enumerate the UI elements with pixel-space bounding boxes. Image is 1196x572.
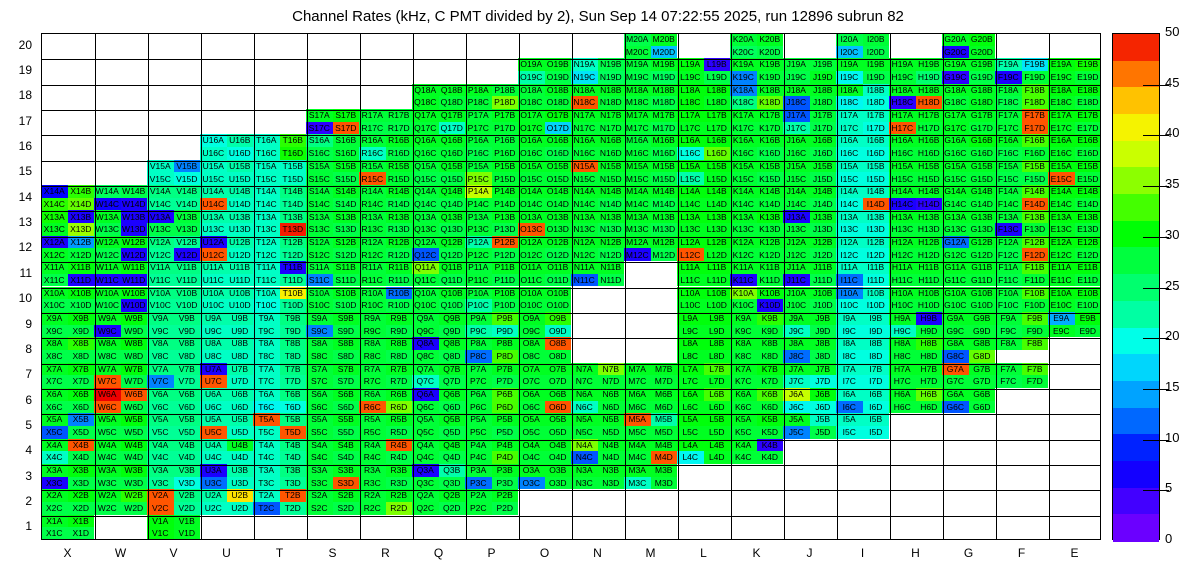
pmt-channel: J10C [783, 299, 810, 312]
pmt-channel: X5C [41, 426, 68, 439]
pmt-channel: Q5C [412, 426, 439, 439]
colorbar-segment [1113, 328, 1159, 355]
pmt-channel: G11C [942, 274, 969, 287]
pmt-channel: O19C [518, 71, 545, 84]
pmt-channel: G13B [969, 210, 996, 223]
pmt-channel: I8B [863, 337, 890, 350]
pmt-channel: O11D [545, 274, 572, 287]
x-axis-tick-label: O [518, 546, 571, 560]
pmt-channel: M12B [651, 236, 678, 249]
pmt-channel: J7C [783, 375, 810, 388]
pmt-channel: X11B [68, 261, 95, 274]
pmt-channel: I12A [836, 236, 863, 249]
pmt-channel: K6A [730, 388, 757, 401]
pmt-channel: R8C [359, 350, 386, 363]
pmt-channel: L7D [704, 375, 731, 388]
pmt-channel: H9D [916, 325, 943, 338]
pmt-channel: R12C [359, 248, 386, 261]
pmt-channel: K11B [757, 261, 784, 274]
pmt-channel: K5C [730, 426, 757, 439]
pmt-channel: K7A [730, 363, 757, 376]
pmt-channel: I16A [836, 134, 863, 147]
heatmap-cells: M20AM20BM20CM20DK20AK20BK20CK20DI20AI20B… [41, 33, 1101, 540]
pmt-channel: T7B [280, 363, 307, 376]
pmt-channel: X7C [41, 375, 68, 388]
colorbar-segment [1113, 87, 1159, 114]
pmt-channel: I5C [836, 426, 863, 439]
pmt-channel: N14A [571, 185, 598, 198]
pmt-channel: P18A [465, 84, 492, 97]
pmt-channel: H16B [916, 134, 943, 147]
pmt-channel: O16B [545, 134, 572, 147]
pmt-channel: P9D [492, 325, 519, 338]
pmt-channel: S14D [333, 198, 360, 211]
pmt-channel: I17C [836, 122, 863, 135]
pmt-channel: P11A [465, 261, 492, 274]
pmt-channel: I20A [836, 33, 863, 46]
pmt-channel: G17A [942, 109, 969, 122]
pmt-channel: T8D [280, 350, 307, 363]
pmt-channel: L16A [677, 134, 704, 147]
pmt-channel: U15C [200, 172, 227, 185]
pmt-channel: M15B [651, 160, 678, 173]
pmt-channel: S14B [333, 185, 360, 198]
pmt-channel: R2D [386, 502, 413, 515]
pmt-channel: I15A [836, 160, 863, 173]
pmt-channel: R14A [359, 185, 386, 198]
pmt-channel: J12D [810, 248, 837, 261]
pmt-channel: O13B [545, 210, 572, 223]
pmt-channel: Q11C [412, 274, 439, 287]
pmt-channel: M3D [651, 477, 678, 490]
pmt-channel: U7B [227, 363, 254, 376]
pmt-channel: K10D [757, 299, 784, 312]
pmt-channel: U9C [200, 325, 227, 338]
colorbar-tick-label: 0 [1165, 531, 1172, 546]
pmt-channel: P2A [465, 489, 492, 502]
pmt-channel: O12C [518, 248, 545, 261]
pmt-channel: W9B [121, 312, 148, 325]
pmt-channel: I13A [836, 210, 863, 223]
pmt-channel: O7C [518, 375, 545, 388]
pmt-channel: O6A [518, 388, 545, 401]
pmt-channel: T2A [253, 489, 280, 502]
pmt-channel: P13A [465, 210, 492, 223]
pmt-channel: H6D [916, 401, 943, 414]
pmt-channel: L17C [677, 122, 704, 135]
pmt-channel: W5B [121, 413, 148, 426]
pmt-channel: J13A [783, 210, 810, 223]
pmt-channel: G11D [969, 274, 996, 287]
pmt-channel: O4C [518, 451, 545, 464]
pmt-channel: N13C [571, 223, 598, 236]
pmt-channel: J13C [783, 223, 810, 236]
pmt-channel: S16D [333, 147, 360, 160]
pmt-channel: T6C [253, 401, 280, 414]
pmt-channel: Q9D [439, 325, 466, 338]
pmt-channel: J19C [783, 71, 810, 84]
pmt-channel: L17D [704, 122, 731, 135]
pmt-channel: I14C [836, 198, 863, 211]
pmt-channel: J10B [810, 287, 837, 300]
pmt-channel: U7C [200, 375, 227, 388]
pmt-channel: H17A [889, 109, 916, 122]
pmt-channel: M19C [624, 71, 651, 84]
pmt-channel: W13B [121, 210, 148, 223]
pmt-channel: Q14B [439, 185, 466, 198]
pmt-channel: R13B [386, 210, 413, 223]
pmt-channel: R11B [386, 261, 413, 274]
pmt-channel: H10C [889, 299, 916, 312]
pmt-channel: M15D [651, 172, 678, 185]
pmt-channel: S10A [306, 287, 333, 300]
pmt-channel: W13C [94, 223, 121, 236]
pmt-channel: O3C [518, 477, 545, 490]
pmt-channel: M13A [624, 210, 651, 223]
pmt-channel: I14A [836, 185, 863, 198]
pmt-channel: M5D [651, 426, 678, 439]
pmt-channel: I7B [863, 363, 890, 376]
pmt-channel: S4C [306, 451, 333, 464]
pmt-channel: T5B [280, 413, 307, 426]
pmt-channel: I9D [863, 325, 890, 338]
pmt-channel: G17D [969, 122, 996, 135]
pmt-channel: H12B [916, 236, 943, 249]
y-axis-tick-label: 17 [2, 114, 32, 128]
pmt-channel: P15B [492, 160, 519, 173]
pmt-channel: N7C [571, 375, 598, 388]
pmt-channel: I19D [863, 71, 890, 84]
pmt-channel: R10C [359, 299, 386, 312]
pmt-channel: U4D [227, 451, 254, 464]
pmt-channel: H8A [889, 337, 916, 350]
pmt-channel: E9D [1075, 325, 1102, 338]
pmt-channel: Q8C [412, 350, 439, 363]
pmt-channel: V8C [147, 350, 174, 363]
pmt-channel: J5B [810, 413, 837, 426]
pmt-channel: M16C [624, 147, 651, 160]
pmt-channel: U8C [200, 350, 227, 363]
pmt-channel: R12A [359, 236, 386, 249]
pmt-channel: F7D [1022, 375, 1049, 388]
pmt-channel: N12C [571, 248, 598, 261]
pmt-channel: X10B [68, 287, 95, 300]
pmt-channel: Q7C [412, 375, 439, 388]
pmt-channel: K13A [730, 210, 757, 223]
pmt-channel: N17D [598, 122, 625, 135]
pmt-channel: P10C [465, 299, 492, 312]
pmt-channel: F10C [995, 299, 1022, 312]
pmt-channel: X12D [68, 248, 95, 261]
pmt-channel: Q15B [439, 160, 466, 173]
pmt-channel: R5B [386, 413, 413, 426]
pmt-channel: L5B [704, 413, 731, 426]
pmt-channel: F10B [1022, 287, 1049, 300]
pmt-channel: H19A [889, 58, 916, 71]
pmt-channel: K20D [757, 46, 784, 59]
pmt-channel: S12B [333, 236, 360, 249]
pmt-channel: L10A [677, 287, 704, 300]
pmt-channel: T5D [280, 426, 307, 439]
pmt-channel: S5D [333, 426, 360, 439]
pmt-channel: T8B [280, 337, 307, 350]
pmt-channel: N4B [598, 439, 625, 452]
pmt-channel: M5B [651, 413, 678, 426]
pmt-channel: K17C [730, 122, 757, 135]
pmt-channel: O14A [518, 185, 545, 198]
pmt-channel: L14C [677, 198, 704, 211]
pmt-channel: M18C [624, 96, 651, 109]
pmt-channel: G20D [969, 46, 996, 59]
pmt-channel: J18A [783, 84, 810, 97]
pmt-channel: X2A [41, 489, 68, 502]
pmt-channel: P7B [492, 363, 519, 376]
pmt-channel: V6D [174, 401, 201, 414]
pmt-channel: K4C [730, 451, 757, 464]
pmt-channel: J5A [783, 413, 810, 426]
pmt-channel: I15B [863, 160, 890, 173]
pmt-channel: M18A [624, 84, 651, 97]
pmt-channel: H10A [889, 287, 916, 300]
pmt-channel: J18C [783, 96, 810, 109]
pmt-channel: L7B [704, 363, 731, 376]
pmt-channel: K14A [730, 185, 757, 198]
pmt-channel: P7D [492, 375, 519, 388]
pmt-channel: Q11D [439, 274, 466, 287]
pmt-channel: K18D [757, 96, 784, 109]
pmt-channel: N7D [598, 375, 625, 388]
pmt-channel: E13D [1075, 223, 1102, 236]
pmt-channel: I16B [863, 134, 890, 147]
pmt-channel: U10C [200, 299, 227, 312]
pmt-channel: Q14D [439, 198, 466, 211]
pmt-channel: M6D [651, 401, 678, 414]
pmt-channel: G10D [969, 299, 996, 312]
pmt-channel: W7D [121, 375, 148, 388]
pmt-channel: H13B [916, 210, 943, 223]
pmt-channel: L12A [677, 236, 704, 249]
pmt-channel: R10D [386, 299, 413, 312]
pmt-channel: K8A [730, 337, 757, 350]
pmt-channel: T12C [253, 248, 280, 261]
pmt-channel: V6B [174, 388, 201, 401]
pmt-channel: T11B [280, 261, 307, 274]
pmt-channel: S17D [333, 122, 360, 135]
pmt-channel: J15A [783, 160, 810, 173]
pmt-channel: I18B [863, 84, 890, 97]
pmt-channel: X10D [68, 299, 95, 312]
pmt-channel: U10A [200, 287, 227, 300]
pmt-channel: P18B [492, 84, 519, 97]
pmt-channel: I20C [836, 46, 863, 59]
pmt-channel: I17B [863, 109, 890, 122]
pmt-channel: P8D [492, 350, 519, 363]
pmt-channel: F10D [1022, 299, 1049, 312]
pmt-channel: K17B [757, 109, 784, 122]
pmt-channel: K11D [757, 274, 784, 287]
pmt-channel: H17C [889, 122, 916, 135]
pmt-channel: G14B [969, 185, 996, 198]
pmt-channel: Q10A [412, 287, 439, 300]
pmt-channel: L14D [704, 198, 731, 211]
pmt-channel: G7C [942, 375, 969, 388]
pmt-channel: G9B [969, 312, 996, 325]
pmt-channel: Q12C [412, 248, 439, 261]
pmt-channel: P10D [492, 299, 519, 312]
pmt-channel: N4D [598, 451, 625, 464]
pmt-channel: I8D [863, 350, 890, 363]
pmt-channel: S2D [333, 502, 360, 515]
pmt-channel: R9C [359, 325, 386, 338]
pmt-channel: K11A [730, 261, 757, 274]
pmt-channel: L6A [677, 388, 704, 401]
pmt-channel: G7A [942, 363, 969, 376]
pmt-channel: S12D [333, 248, 360, 261]
pmt-channel: F7A [995, 363, 1022, 376]
pmt-channel: V15A [147, 160, 174, 173]
pmt-channel: X2D [68, 502, 95, 515]
pmt-channel: P13C [465, 223, 492, 236]
pmt-channel: J18B [810, 84, 837, 97]
pmt-channel: K9B [757, 312, 784, 325]
pmt-channel: N19D [598, 71, 625, 84]
pmt-channel: I7A [836, 363, 863, 376]
pmt-channel: P17D [492, 122, 519, 135]
pmt-channel: S17B [333, 109, 360, 122]
pmt-channel: H15A [889, 160, 916, 173]
pmt-channel: S9B [333, 312, 360, 325]
pmt-channel: G13D [969, 223, 996, 236]
pmt-channel: T16A [253, 134, 280, 147]
pmt-channel: T12A [253, 236, 280, 249]
pmt-channel: P14A [465, 185, 492, 198]
pmt-channel: V13C [147, 223, 174, 236]
x-axis-tick-label: P [465, 546, 518, 560]
pmt-channel: U13C [200, 223, 227, 236]
pmt-channel: V9D [174, 325, 201, 338]
pmt-channel: U15B [227, 160, 254, 173]
pmt-channel: U2D [227, 502, 254, 515]
pmt-channel: J9D [810, 325, 837, 338]
pmt-channel: P16B [492, 134, 519, 147]
pmt-channel: T2D [280, 502, 307, 515]
pmt-channel: G14D [969, 198, 996, 211]
pmt-channel: M4D [651, 451, 678, 464]
x-axis-tick-label: E [1048, 546, 1101, 560]
pmt-channel: Q7B [439, 363, 466, 376]
x-axis-tick-label: J [783, 546, 836, 560]
pmt-channel: G8C [942, 350, 969, 363]
pmt-channel: P11C [465, 274, 492, 287]
pmt-channel: E11B [1075, 261, 1102, 274]
pmt-channel: L16C [677, 147, 704, 160]
pmt-channel: T3D [280, 477, 307, 490]
pmt-channel: R5D [386, 426, 413, 439]
pmt-channel: W5C [94, 426, 121, 439]
pmt-channel: W9D [121, 325, 148, 338]
pmt-channel: W11B [121, 261, 148, 274]
pmt-channel: M14B [651, 185, 678, 198]
pmt-channel: V14D [174, 198, 201, 211]
pmt-channel: S2B [333, 489, 360, 502]
pmt-channel: U16B [227, 134, 254, 147]
pmt-channel: Q13A [412, 210, 439, 223]
pmt-channel: U3D [227, 477, 254, 490]
pmt-channel: Q18B [439, 84, 466, 97]
pmt-channel: L19B [704, 58, 731, 71]
pmt-channel: H6A [889, 388, 916, 401]
x-axis-tick-label: W [94, 546, 147, 560]
pmt-channel: P13D [492, 223, 519, 236]
pmt-channel: T10D [280, 299, 307, 312]
x-axis-tick-label: G [942, 546, 995, 560]
x-axis-tick-label: K [730, 546, 783, 560]
pmt-channel: P16D [492, 147, 519, 160]
pmt-channel: M19D [651, 71, 678, 84]
pmt-channel: X13B [68, 210, 95, 223]
pmt-channel: W10C [94, 299, 121, 312]
pmt-channel: S16A [306, 134, 333, 147]
pmt-channel: J15D [810, 172, 837, 185]
pmt-channel: R5A [359, 413, 386, 426]
channel-rates-plot: Channel Rates (kHz, C PMT divided by 2),… [0, 0, 1196, 572]
pmt-channel: V14B [174, 185, 201, 198]
pmt-channel: V5B [174, 413, 201, 426]
pmt-channel: X6C [41, 401, 68, 414]
pmt-channel: P10A [465, 287, 492, 300]
pmt-channel: L19C [677, 71, 704, 84]
pmt-channel: W6C [94, 401, 121, 414]
pmt-channel: U8A [200, 337, 227, 350]
pmt-channel: O18B [545, 84, 572, 97]
pmt-channel: E18D [1075, 96, 1102, 109]
pmt-channel: Q18A [412, 84, 439, 97]
pmt-channel: V3B [174, 464, 201, 477]
pmt-channel: W11D [121, 274, 148, 287]
pmt-channel: N17C [571, 122, 598, 135]
pmt-channel: J16C [783, 147, 810, 160]
pmt-channel: E18A [1048, 84, 1075, 97]
pmt-channel: K14D [757, 198, 784, 211]
pmt-channel: H18B [916, 84, 943, 97]
pmt-channel: H11D [916, 274, 943, 287]
pmt-channel: E17A [1048, 109, 1075, 122]
pmt-channel: U8D [227, 350, 254, 363]
pmt-channel: L9C [677, 325, 704, 338]
pmt-channel: O12D [545, 248, 572, 261]
pmt-channel: J6B [810, 388, 837, 401]
pmt-channel: X8C [41, 350, 68, 363]
pmt-channel: Q16A [412, 134, 439, 147]
pmt-channel: X13D [68, 223, 95, 236]
pmt-channel: U10D [227, 299, 254, 312]
pmt-channel: P14B [492, 185, 519, 198]
pmt-channel: L6B [704, 388, 731, 401]
pmt-channel: U11D [227, 274, 254, 287]
pmt-channel: R16B [386, 134, 413, 147]
pmt-channel: S5A [306, 413, 333, 426]
pmt-channel: G13A [942, 210, 969, 223]
pmt-channel: Q5D [439, 426, 466, 439]
pmt-channel: K19D [757, 71, 784, 84]
pmt-channel: V1D [174, 527, 201, 540]
colorbar-segment [1113, 354, 1159, 381]
pmt-channel: O8B [545, 337, 572, 350]
pmt-channel: H8C [889, 350, 916, 363]
pmt-channel: S17C [306, 122, 333, 135]
pmt-channel: U14C [200, 198, 227, 211]
pmt-channel: K12A [730, 236, 757, 249]
